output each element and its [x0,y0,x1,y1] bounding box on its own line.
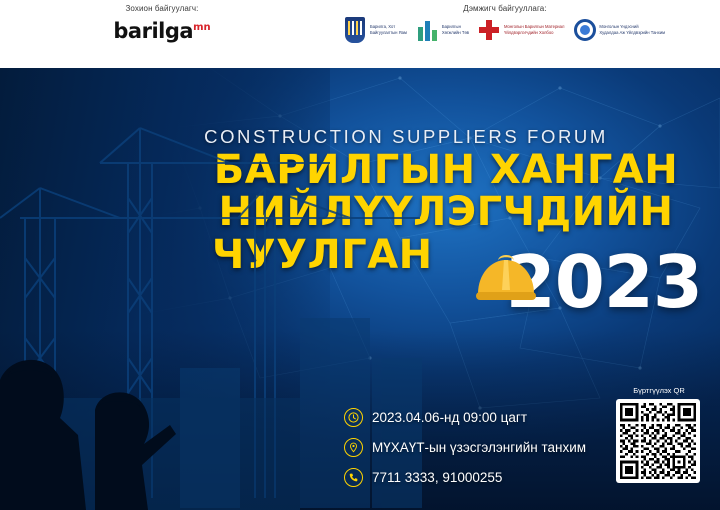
location-pin-icon [344,438,363,457]
registration-qr-code[interactable] [616,399,700,483]
poster-image: Зохион байгуулагч: barilgamn Дэмжигч бай… [0,0,720,510]
ministry-crest-line2: Байгуулалтын Яам [370,30,407,36]
ministry-crest-text: Барилга, Хот Байгуулалтын Яам [370,24,407,35]
green-building-icon [417,17,439,43]
qr-caption: Бүртгүүлэх QR [616,386,702,395]
ministry-crest-logo: Барилга, Хот Байгуулалтын Яам [345,17,407,43]
supporters-label: Дэмжигч байгууллага: [340,4,670,13]
blue-circle-line2: Худалдаа Аж Үйлдвэрийн Танхим [599,30,665,36]
organizer-label: Зохион байгуулагч: [84,4,240,13]
barilga-mn-logo: barilgamn [113,17,210,42]
hard-hat-icon [474,250,538,306]
event-venue-row: МҮХАҮТ-ын үзэсгэлэнгийн танхим [344,438,586,457]
red-cross-icon [479,17,501,43]
red-cross-line2: Үйлдвэрлэгчдийн Холбоо [504,30,564,36]
event-banner: CONSTRUCTION SUPPLIERS FORUM БАРИЛГЫН ХА… [0,68,720,510]
event-venue-text: МҮХАҮТ-ын үзэсгэлэнгийн танхим [372,440,586,455]
event-phone-row: 7711 3333, 91000255 [344,468,586,487]
blue-circle-logo: Монголын Үндэсний Худалдаа Аж Үйлдвэрийн… [574,17,665,43]
ministry-crest-icon [345,17,367,43]
blue-circle-text: Монголын Үндэсний Худалдаа Аж Үйлдвэрийн… [599,24,665,35]
green-building-line2: Хөгжлийн Төв [442,30,469,36]
red-cross-logo: Монголын Барилгын Материал Үйлдвэрлэгчди… [479,17,564,43]
event-datetime-text: 2023.04.06-нд 09:00 цагт [372,410,527,425]
blue-circle-icon [574,17,596,43]
red-cross-text: Монголын Барилгын Материал Үйлдвэрлэгчди… [504,24,564,35]
event-phone-text: 7711 3333, 91000255 [372,470,502,485]
phone-icon [344,468,363,487]
green-building-text: Барилгын Хөгжлийн Төв [442,24,469,35]
qr-block: Бүртгүүлэх QR [616,386,702,483]
organizer-group: Зохион байгуулагч: barilgamn [84,4,240,42]
qr-code-pattern [620,403,696,479]
worker-silhouettes [0,260,340,510]
green-building-logo: Барилгын Хөгжлийн Төв [417,17,469,43]
clock-icon [344,408,363,427]
sponsor-logo-bar: Зохион байгуулагч: barilgamn Дэмжигч бай… [0,0,720,68]
supporters-group: Дэмжигч байгууллага: Барилга, Хот Байгуу… [340,4,670,43]
event-details: 2023.04.06-нд 09:00 цагт МҮХАҮТ-ын үзэсг… [344,408,586,498]
event-datetime-row: 2023.04.06-нд 09:00 цагт [344,408,586,427]
barilga-wordmark: barilga [113,19,193,43]
barilga-mn-suffix: mn [193,22,211,33]
